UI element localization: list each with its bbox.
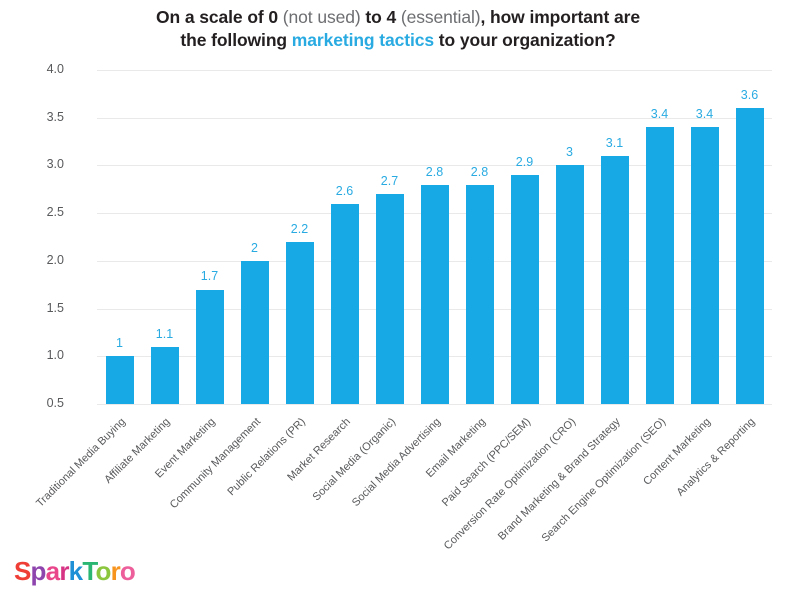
logo-letter: o [120, 556, 135, 586]
title-line-2: the following marketing tactics to your … [180, 30, 615, 50]
bar-value-label: 2.2 [275, 222, 325, 236]
logo-letter: r [111, 556, 120, 586]
bar-value-label: 2 [230, 241, 280, 255]
gridline [97, 404, 772, 405]
bar[interactable] [241, 261, 269, 404]
logo-letter: k [69, 556, 83, 586]
x-axis-category-label: Social Media Advertising [350, 416, 443, 509]
bar[interactable] [151, 347, 179, 404]
title-seg-scale: On a scale of 0 [156, 7, 278, 27]
bar[interactable] [421, 185, 449, 404]
bar[interactable] [736, 108, 764, 404]
bar[interactable] [646, 127, 674, 404]
bar[interactable] [196, 290, 224, 405]
gridline [97, 70, 772, 71]
bar-value-label: 1.1 [140, 327, 190, 341]
title-seg-essential: (essential) [401, 7, 481, 27]
sparktoro-logo: SparkToro [14, 556, 135, 586]
bar-value-label: 3.1 [590, 136, 640, 150]
bar-chart: On a scale of 0 (not used) to 4 (essenti… [0, 0, 796, 600]
bar[interactable] [331, 204, 359, 404]
title-seg-how-important: , how important are [480, 7, 640, 27]
y-axis-tick-label: 1.5 [18, 301, 64, 315]
title-seg-following: the following [180, 30, 287, 50]
bar-value-label: 2.7 [365, 174, 415, 188]
y-axis-tick-label: 2.0 [18, 253, 64, 267]
bar[interactable] [601, 156, 629, 404]
x-axis-category-label: Social Media (Organic) [310, 416, 398, 504]
logo-letter: T [82, 556, 95, 586]
title-seg-organization: to your organization? [439, 30, 616, 50]
y-axis-tick-label: 3.0 [18, 157, 64, 171]
y-axis-tick-label: 3.5 [18, 110, 64, 124]
logo-letter: o [95, 556, 110, 586]
bar[interactable] [376, 194, 404, 404]
x-axis-category-label: Analytics & Reporting [675, 416, 758, 499]
title-seg-to-4: to 4 [365, 7, 396, 27]
x-axis-category-label: Paid Search (PPC/SEM) [440, 416, 533, 509]
bar-value-label: 2.8 [410, 165, 460, 179]
bar[interactable] [556, 165, 584, 404]
bar-value-label: 3.6 [725, 88, 775, 102]
y-axis-tick-label: 4.0 [18, 62, 64, 76]
bar[interactable] [286, 242, 314, 404]
title-line-1: On a scale of 0 (not used) to 4 (essenti… [156, 7, 640, 27]
bar-value-label: 1 [95, 336, 145, 350]
y-axis-tick-label: 2.5 [18, 205, 64, 219]
bar-value-label: 2.8 [455, 165, 505, 179]
logo-letter: S [14, 556, 31, 586]
chart-title: On a scale of 0 (not used) to 4 (essenti… [40, 6, 756, 52]
title-seg-marketing-tactics: marketing tactics [292, 30, 434, 50]
bar[interactable] [511, 175, 539, 404]
y-axis-tick-label: 0.5 [18, 396, 64, 410]
x-axis-category-label: Traditional Media Buying [34, 416, 128, 510]
bar-value-label: 2.9 [500, 155, 550, 169]
bar[interactable] [106, 356, 134, 404]
logo-letter: a [46, 556, 60, 586]
logo-letter: r [59, 556, 68, 586]
x-axis-category-label: Community Management [167, 416, 262, 511]
bar-value-label: 2.6 [320, 184, 370, 198]
title-seg-not-used: (not used) [283, 7, 361, 27]
bar-value-label: 3.4 [635, 107, 685, 121]
bar[interactable] [466, 185, 494, 404]
plot-area: 4.03.53.02.52.01.51.00.51Traditional Med… [97, 70, 772, 404]
bar[interactable] [691, 127, 719, 404]
bar-value-label: 3 [545, 145, 595, 159]
bar-value-label: 1.7 [185, 269, 235, 283]
y-axis-tick-label: 1.0 [18, 348, 64, 362]
logo-letter: p [31, 556, 46, 586]
x-axis-category-label: Public Relations (PR) [225, 416, 307, 498]
bar-value-label: 3.4 [680, 107, 730, 121]
